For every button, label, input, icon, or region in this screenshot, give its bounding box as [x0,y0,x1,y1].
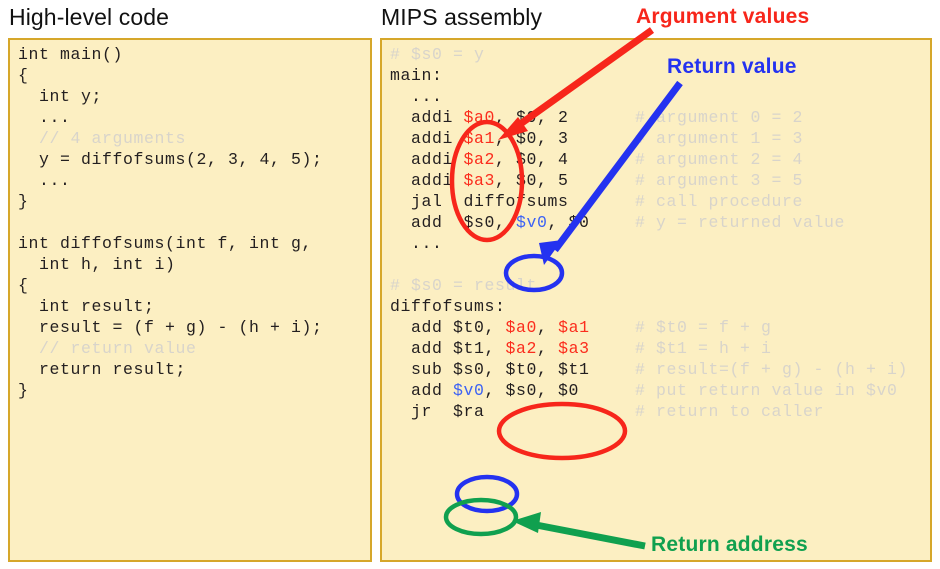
code-line: jr $ra# return to caller [390,401,908,422]
register-token: $a1 [558,318,590,337]
register-token: $a1 [464,129,496,148]
code-line: addi $a3, $0, 5# argument 3 = 5 [390,170,908,191]
code-instruction [390,254,635,275]
annotation-label-return-value: Return value [667,55,797,79]
code-line: ... [18,170,323,191]
register-token: $a0 [464,108,496,127]
code-comment: # argument 1 = 3 [635,128,908,149]
code-line: return result; [18,359,323,380]
code-instruction: addi $a2, $0, 4 [390,149,635,170]
register-token: $a0 [506,318,538,337]
code-instruction: # $s0 = result [390,275,635,296]
code-line: addi $a1, $0, 3# argument 1 = 3 [390,128,908,149]
code-line: } [18,380,323,401]
code-instruction: jr $ra [390,401,635,422]
code-instruction: addi $a3, $0, 5 [390,170,635,191]
code-line: # $s0 = y [390,44,908,65]
code-line: y = diffofsums(2, 3, 4, 5); [18,149,323,170]
code-line: { [18,65,323,86]
code-comment [635,233,908,254]
code-line [390,254,908,275]
code-line: add $t1, $a2, $a3# $t1 = h + i [390,338,908,359]
code-comment [635,86,908,107]
register-token: $v0 [453,381,485,400]
code-line: sub $s0, $t0, $t1# result=(f + g) - (h +… [390,359,908,380]
code-line: // 4 arguments [18,128,323,149]
high-level-code-listing: int main(){ int y; ... // 4 arguments y … [18,44,323,401]
code-line: } [18,191,323,212]
code-instruction: addi $a1, $0, 3 [390,128,635,149]
code-instruction: add $t0, $a0, $a1 [390,317,635,338]
code-comment: # y = returned value [635,212,908,233]
code-instruction: ... [390,86,635,107]
code-instruction: addi $a0, $0, 2 [390,107,635,128]
code-line: main: [390,65,908,86]
code-line [18,212,323,233]
annotation-label-argument-values: Argument values [636,5,809,29]
code-line: int h, int i) [18,254,323,275]
code-line: add $t0, $a0, $a1# $t0 = f + g [390,317,908,338]
register-token: $a2 [506,339,538,358]
code-instruction: jal diffofsums [390,191,635,212]
heading-mips-assembly: MIPS assembly [381,4,542,31]
register-token: $a2 [464,150,496,169]
code-line: result = (f + g) - (h + i); [18,317,323,338]
register-token: $a3 [464,171,496,190]
code-comment: # argument 2 = 4 [635,149,908,170]
code-line: addi $a2, $0, 4# argument 2 = 4 [390,149,908,170]
code-comment: # put return value in $v0 [635,380,908,401]
code-line: add $s0, $v0, $0# y = returned value [390,212,908,233]
code-comment [635,254,908,275]
annotation-label-return-address: Return address [651,533,808,557]
code-comment: # argument 0 = 2 [635,107,908,128]
code-comment [635,296,908,317]
register-token: $v0 [516,213,548,232]
code-line: int result; [18,296,323,317]
code-comment: # call procedure [635,191,908,212]
code-instruction: add $s0, $v0, $0 [390,212,635,233]
code-line: add $v0, $s0, $0# put return value in $v… [390,380,908,401]
code-instruction: add $v0, $s0, $0 [390,380,635,401]
code-line: ... [390,86,908,107]
code-line: int main() [18,44,323,65]
mips-assembly-listing: # $s0 = y main: ... addi $a0, $0, 2# arg… [390,44,908,422]
code-instruction: add $t1, $a2, $a3 [390,338,635,359]
code-line: // return value [18,338,323,359]
code-comment: # return to caller [635,401,908,422]
code-line: # $s0 = result [390,275,908,296]
code-comment: # $t1 = h + i [635,338,908,359]
code-instruction: ... [390,233,635,254]
code-line: ... [390,233,908,254]
code-instruction: main: [390,65,635,86]
code-line: int diffofsums(int f, int g, [18,233,323,254]
code-instruction: sub $s0, $t0, $t1 [390,359,635,380]
code-comment: # result=(f + g) - (h + i) [635,359,908,380]
code-line: addi $a0, $0, 2# argument 0 = 2 [390,107,908,128]
code-instruction: diffofsums: [390,296,635,317]
code-comment: # argument 3 = 5 [635,170,908,191]
code-line: { [18,275,323,296]
heading-high-level-code: High-level code [9,4,169,31]
register-token: $a3 [558,339,590,358]
code-line: jal diffofsums# call procedure [390,191,908,212]
code-line: ... [18,107,323,128]
code-instruction: # $s0 = y [390,44,635,65]
code-comment: # $t0 = f + g [635,317,908,338]
code-line: int y; [18,86,323,107]
code-comment [635,275,908,296]
code-line: diffofsums: [390,296,908,317]
